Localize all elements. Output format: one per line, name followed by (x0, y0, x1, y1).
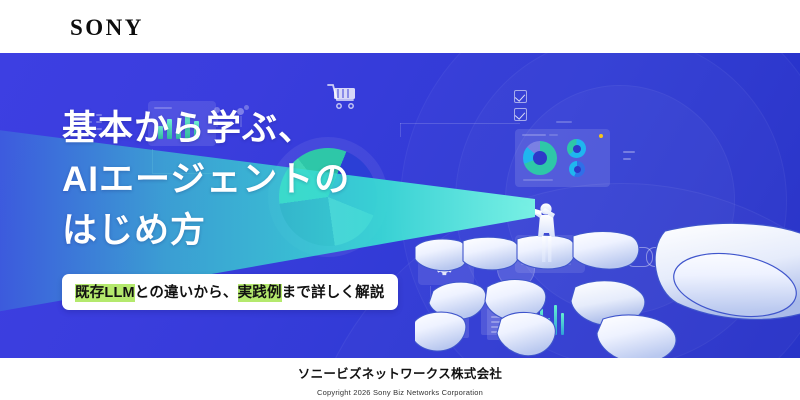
hero-banner: 基本から学ぶ、 AIエージェントの はじめ方 既存LLMとの違いから、実践例まで… (0, 53, 800, 358)
mini-donut (567, 139, 586, 158)
hero-subtitle-badge: 既存LLMとの違いから、実践例まで詳しく解説 (62, 274, 398, 310)
hero-title-line-3: はじめ方 (62, 205, 398, 256)
badge-plain-1: との違いから、 (135, 285, 238, 301)
connector-line (400, 123, 401, 137)
page-root: SONY (0, 0, 800, 400)
hero-title-line-1: 基本から学ぶ、 (62, 103, 398, 154)
footer-company-name: ソニービズネットワークス株式会社 (0, 363, 800, 382)
hero-copy: 基本から学ぶ、 AIエージェントの はじめ方 既存LLMとの違いから、実践例まで… (62, 103, 398, 310)
checkbox-icon (514, 108, 527, 121)
site-header: SONY (0, 0, 800, 53)
badge-plain-2: まで詳しく解説 (282, 285, 385, 301)
connector-label (556, 121, 572, 123)
checkbox-icon (514, 90, 527, 103)
mini-donut (569, 161, 585, 177)
legend-tick (623, 151, 635, 153)
badge-highlight-2: 実践例 (238, 284, 282, 302)
badge-text: 既存LLMとの違いから、実践例まで詳しく解説 (75, 284, 385, 302)
badge-highlight-1: 既存LLM (75, 284, 135, 302)
donut-dashboard-card (515, 129, 610, 187)
footer-copyright: Copyright 2026 Sony Biz Networks Corpora… (0, 388, 800, 397)
site-footer: ソニービズネットワークス株式会社 Copyright 2026 Sony Biz… (0, 358, 800, 400)
sony-logo[interactable]: SONY (70, 16, 144, 39)
legend-tick (623, 158, 631, 160)
donut-chart (523, 141, 557, 175)
connector-line (400, 123, 520, 124)
hero-title-line-2: AIエージェントの (62, 154, 398, 205)
